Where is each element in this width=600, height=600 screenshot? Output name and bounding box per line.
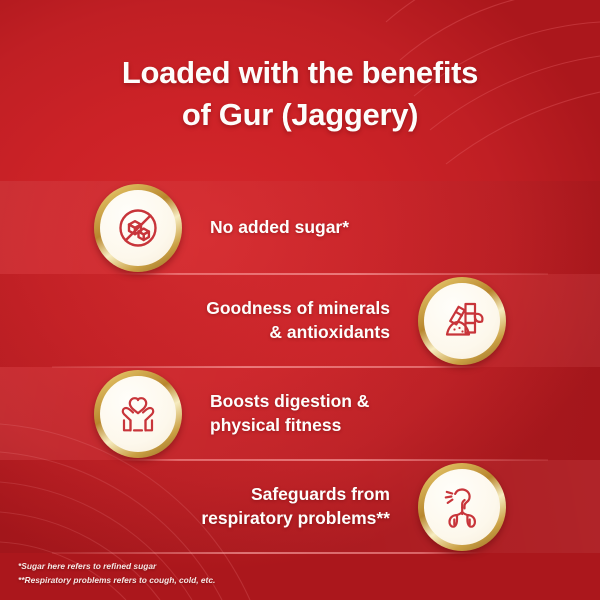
benefit-row-digestion-fitness: Boosts digestion & physical fitness	[0, 367, 600, 460]
medallion-inner	[100, 376, 176, 452]
medallion-inner	[424, 469, 500, 545]
medallion-minerals-antioxidants	[418, 277, 506, 365]
title-line-2: of Gur (Jaggery)	[40, 94, 560, 136]
benefits-list: No added sugar*	[0, 181, 600, 553]
footnote-respiratory: **Respiratory problems refers to cough, …	[18, 574, 215, 588]
footnotes: *Sugar here refers to refined sugar **Re…	[18, 560, 215, 588]
medallion-inner	[424, 283, 500, 359]
medallion-no-added-sugar	[94, 184, 182, 272]
heart-in-hands-icon	[112, 388, 164, 440]
benefit-text-line-2: respiratory problems**	[201, 507, 390, 531]
benefit-text-line-1: Goodness of minerals	[206, 297, 390, 321]
no-added-sugar-icon	[112, 202, 164, 254]
medallion-digestion-fitness	[94, 370, 182, 458]
benefit-text-line-2: & antioxidants	[206, 321, 390, 345]
benefit-text-line-1: No added sugar*	[210, 216, 349, 240]
benefit-text-digestion-fitness: Boosts digestion & physical fitness	[210, 390, 369, 437]
poster-header: Loaded with the benefits of Gur (Jaggery…	[0, 52, 600, 135]
sugarcane-jaggery-icon	[436, 295, 488, 347]
benefit-row-no-added-sugar: No added sugar*	[0, 181, 600, 274]
footnote-sugar: *Sugar here refers to refined sugar	[18, 560, 215, 574]
benefit-text-no-added-sugar: No added sugar*	[210, 216, 349, 240]
benefit-row-minerals-antioxidants: Goodness of minerals & antioxidants	[0, 274, 600, 367]
title-line-1: Loaded with the benefits	[40, 52, 560, 94]
benefit-text-line-2: physical fitness	[210, 414, 369, 438]
medallion-respiratory	[418, 463, 506, 551]
lungs-respiratory-icon	[436, 481, 488, 533]
benefit-text-line-1: Boosts digestion &	[210, 390, 369, 414]
benefit-text-minerals-antioxidants: Goodness of minerals & antioxidants	[206, 297, 390, 344]
poster-canvas: Loaded with the benefits of Gur (Jaggery…	[0, 0, 600, 600]
benefit-text-respiratory: Safeguards from respiratory problems**	[201, 483, 390, 530]
benefit-row-respiratory: Safeguards from respiratory problems**	[0, 460, 600, 553]
benefit-text-line-1: Safeguards from	[201, 483, 390, 507]
medallion-inner	[100, 190, 176, 266]
